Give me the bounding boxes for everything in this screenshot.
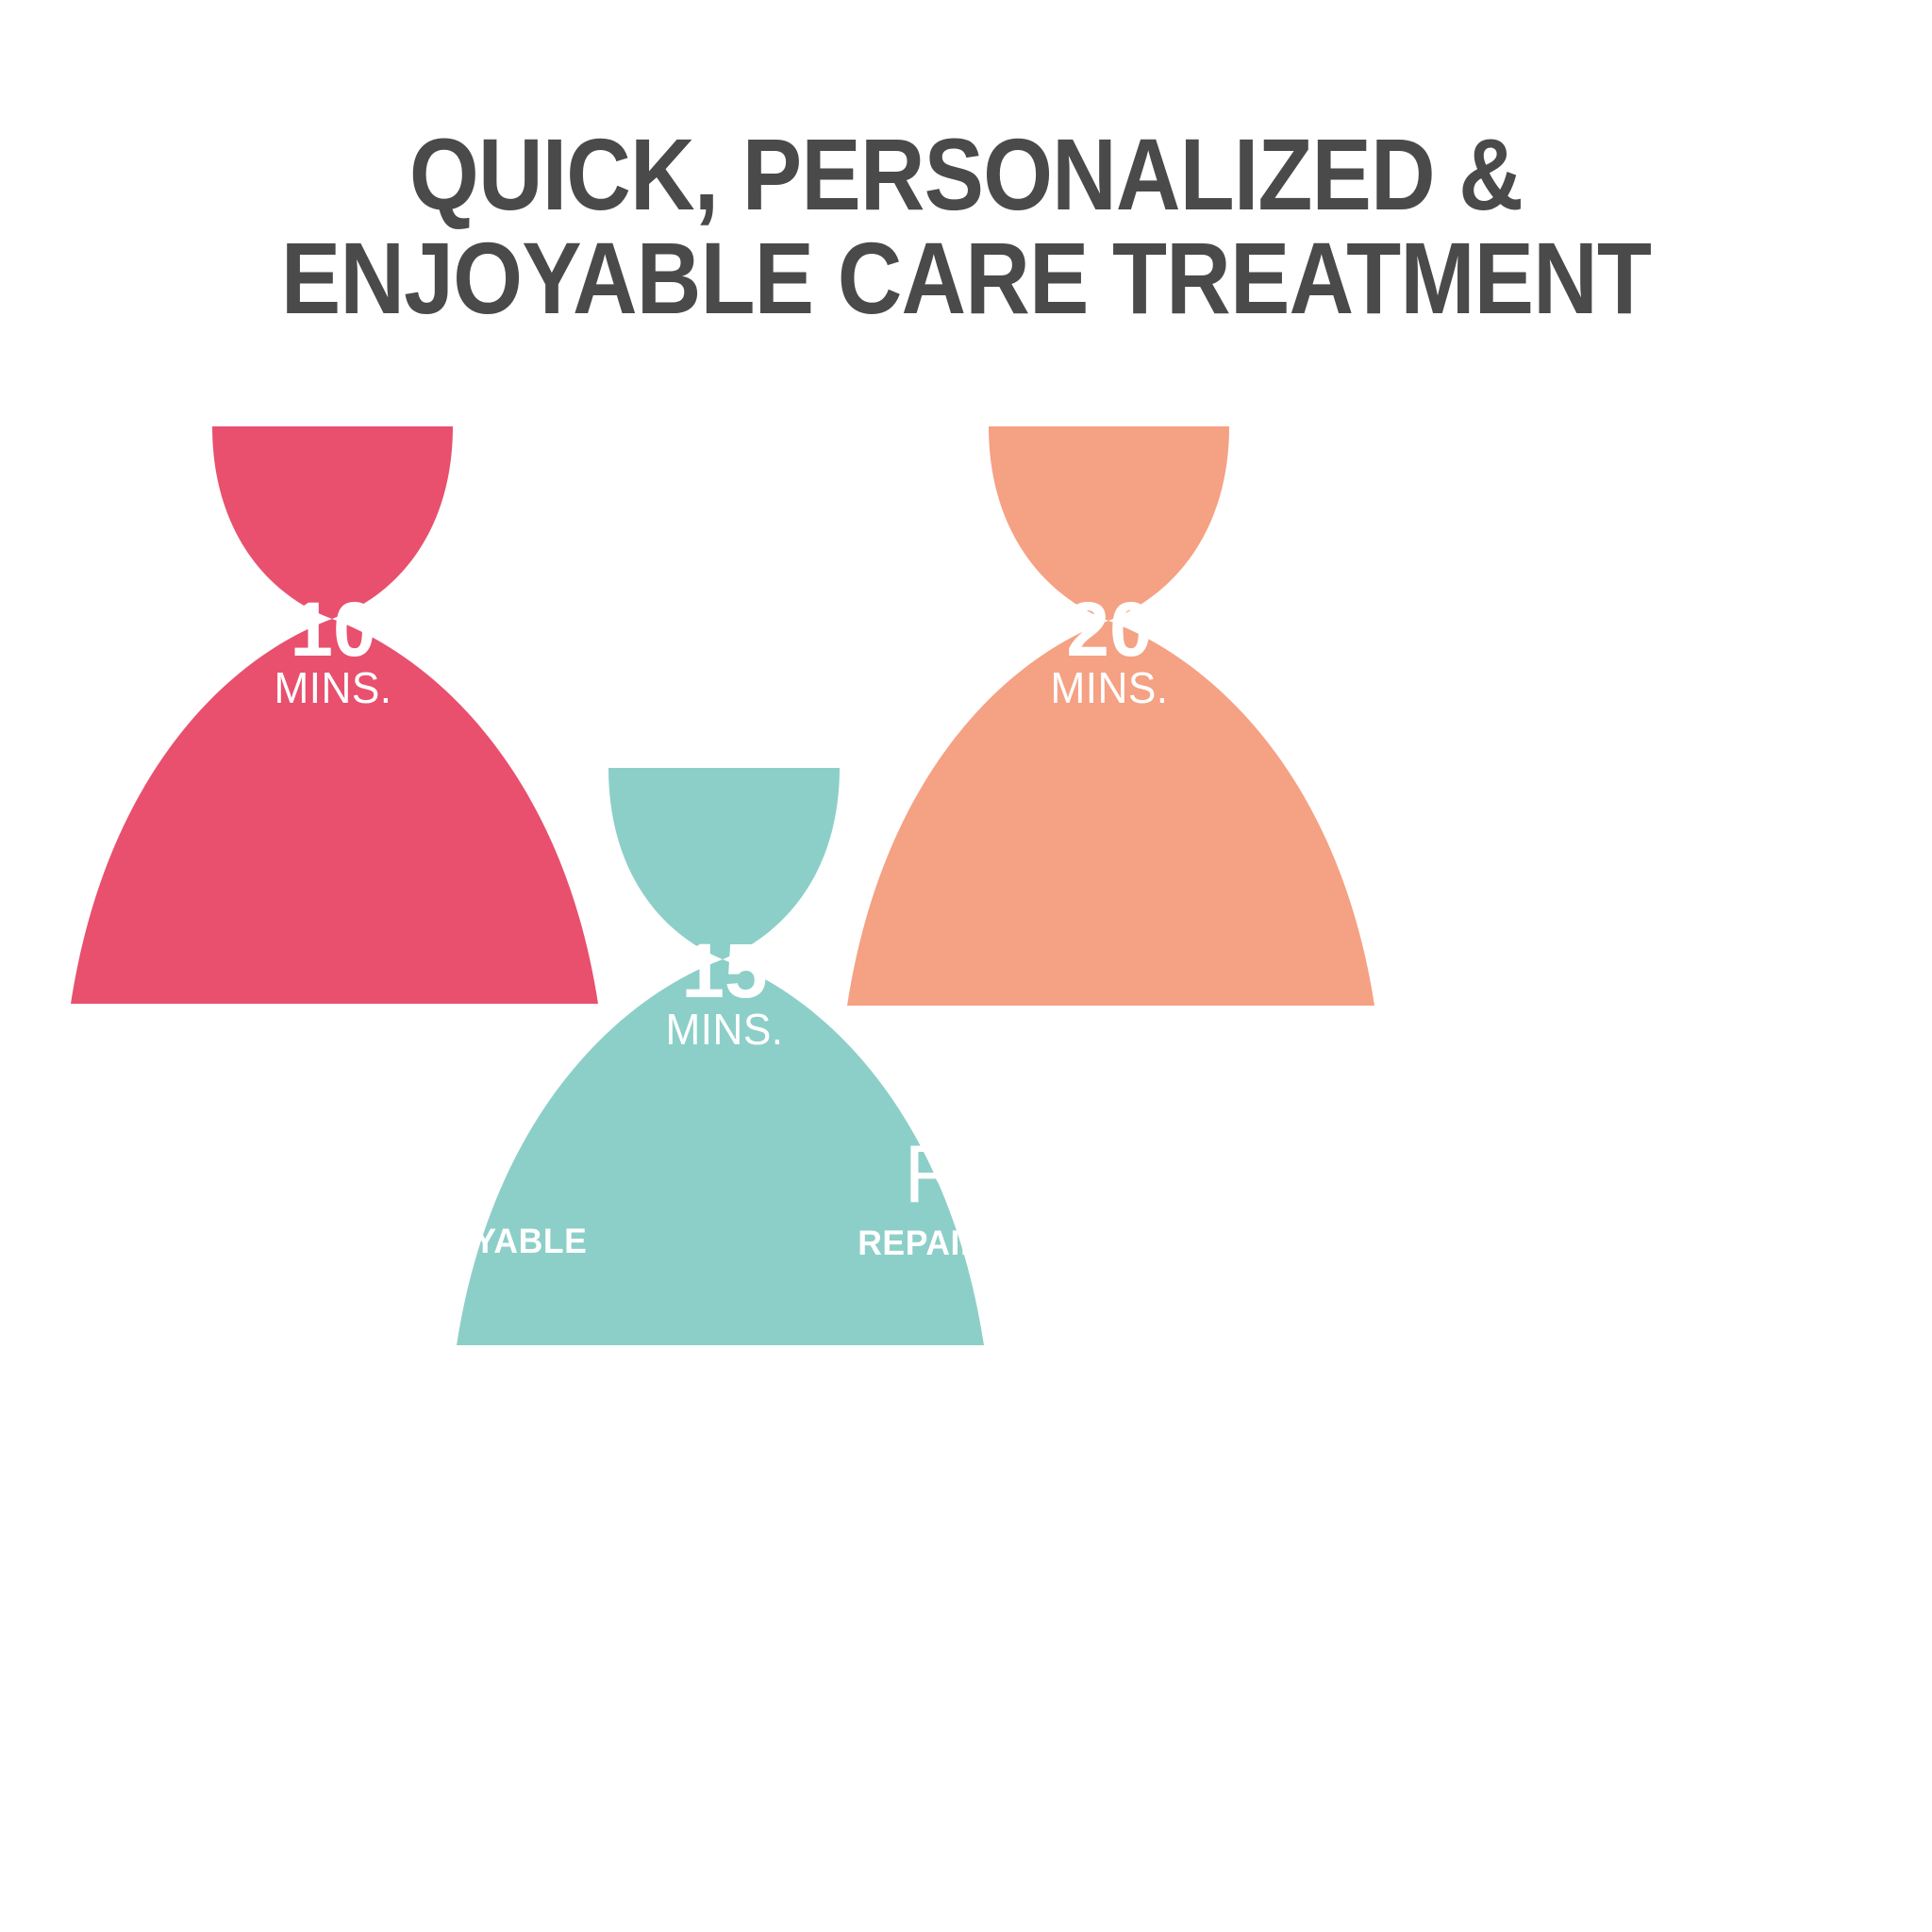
- boost-bottom-cone: [71, 619, 598, 1004]
- infographic-canvas: QUICK, PERSONALIZED & ENJOYABLE CARE TRE…: [0, 0, 1932, 1932]
- recharge-top-cone: [608, 768, 840, 959]
- boost-top-cone: [212, 426, 453, 619]
- recharge-bottom-cone: [457, 959, 984, 1345]
- recover-bottom-cone: [847, 621, 1374, 1006]
- hourglass-boost[interactable]: [71, 426, 598, 1004]
- recover-top-cone: [989, 426, 1229, 621]
- hourglass-chart: [0, 0, 1932, 1932]
- hourglass-recover[interactable]: [847, 426, 1374, 1006]
